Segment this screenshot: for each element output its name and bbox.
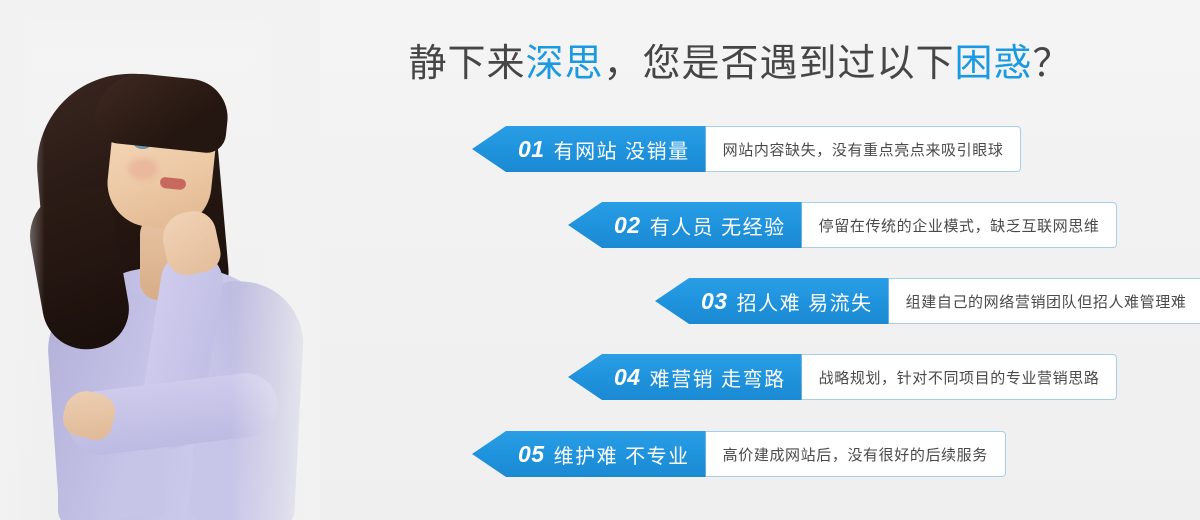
item-tag[interactable]: 04 难营销 走弯路 bbox=[568, 354, 802, 400]
photo-figure bbox=[0, 0, 320, 520]
item-description: 战略规划，针对不同项目的专业营销思路 bbox=[802, 354, 1118, 400]
list-item[interactable]: 03 招人难 易流失 组建自己的网络营销团队但招人难管理难 bbox=[655, 278, 1200, 324]
item-number: 01 bbox=[518, 136, 545, 163]
headline-part-3: ？ bbox=[1033, 43, 1072, 85]
item-title: 招人难 易流失 bbox=[737, 287, 873, 316]
item-title: 有网站 没销量 bbox=[554, 135, 690, 164]
item-number: 02 bbox=[614, 212, 641, 239]
headline-part-1: 静下来 bbox=[408, 43, 525, 85]
item-tag[interactable]: 03 招人难 易流失 bbox=[655, 278, 889, 324]
item-tag[interactable]: 01 有网站 没销量 bbox=[472, 126, 706, 172]
list-item[interactable]: 02 有人员 无经验 停留在传统的企业模式，缺乏互联网思维 bbox=[568, 202, 1117, 248]
item-number: 04 bbox=[614, 364, 641, 391]
hair-front bbox=[93, 69, 232, 154]
item-number: 03 bbox=[701, 288, 728, 315]
item-description: 网站内容缺失，没有重点亮点来吸引眼球 bbox=[706, 126, 1022, 172]
item-title: 有人员 无经验 bbox=[650, 211, 786, 240]
list-item[interactable]: 01 有网站 没销量 网站内容缺失，没有重点亮点来吸引眼球 bbox=[472, 126, 1021, 172]
headline-highlight-2: 困惑 bbox=[955, 43, 1033, 85]
item-description: 组建自己的网络营销团队但招人难管理难 bbox=[889, 278, 1200, 324]
list-item[interactable]: 05 维护难 不专业 高价建成网站后，没有很好的后续服务 bbox=[472, 431, 1006, 477]
page-title: 静下来深思，您是否遇到过以下困惑？ bbox=[330, 38, 1150, 90]
item-title: 维护难 不专业 bbox=[554, 440, 690, 469]
headline-highlight-1: 深思 bbox=[525, 43, 603, 85]
promo-banner: 静下来深思，您是否遇到过以下困惑？ 01 有网站 没销量 网站内容缺失，没有重点… bbox=[0, 0, 1200, 520]
item-title: 难营销 走弯路 bbox=[650, 363, 786, 392]
item-tag[interactable]: 05 维护难 不专业 bbox=[472, 431, 706, 477]
cheek-blush bbox=[128, 158, 158, 180]
item-description: 高价建成网站后，没有很好的后续服务 bbox=[706, 431, 1006, 477]
headline-part-2: ，您是否遇到过以下 bbox=[603, 43, 954, 85]
item-tag[interactable]: 02 有人员 无经验 bbox=[568, 202, 802, 248]
item-description: 停留在传统的企业模式，缺乏互联网思维 bbox=[802, 202, 1118, 248]
item-number: 05 bbox=[518, 441, 545, 468]
thinking-woman-photo bbox=[0, 0, 320, 520]
list-item[interactable]: 04 难营销 走弯路 战略规划，针对不同项目的专业营销思路 bbox=[568, 354, 1117, 400]
